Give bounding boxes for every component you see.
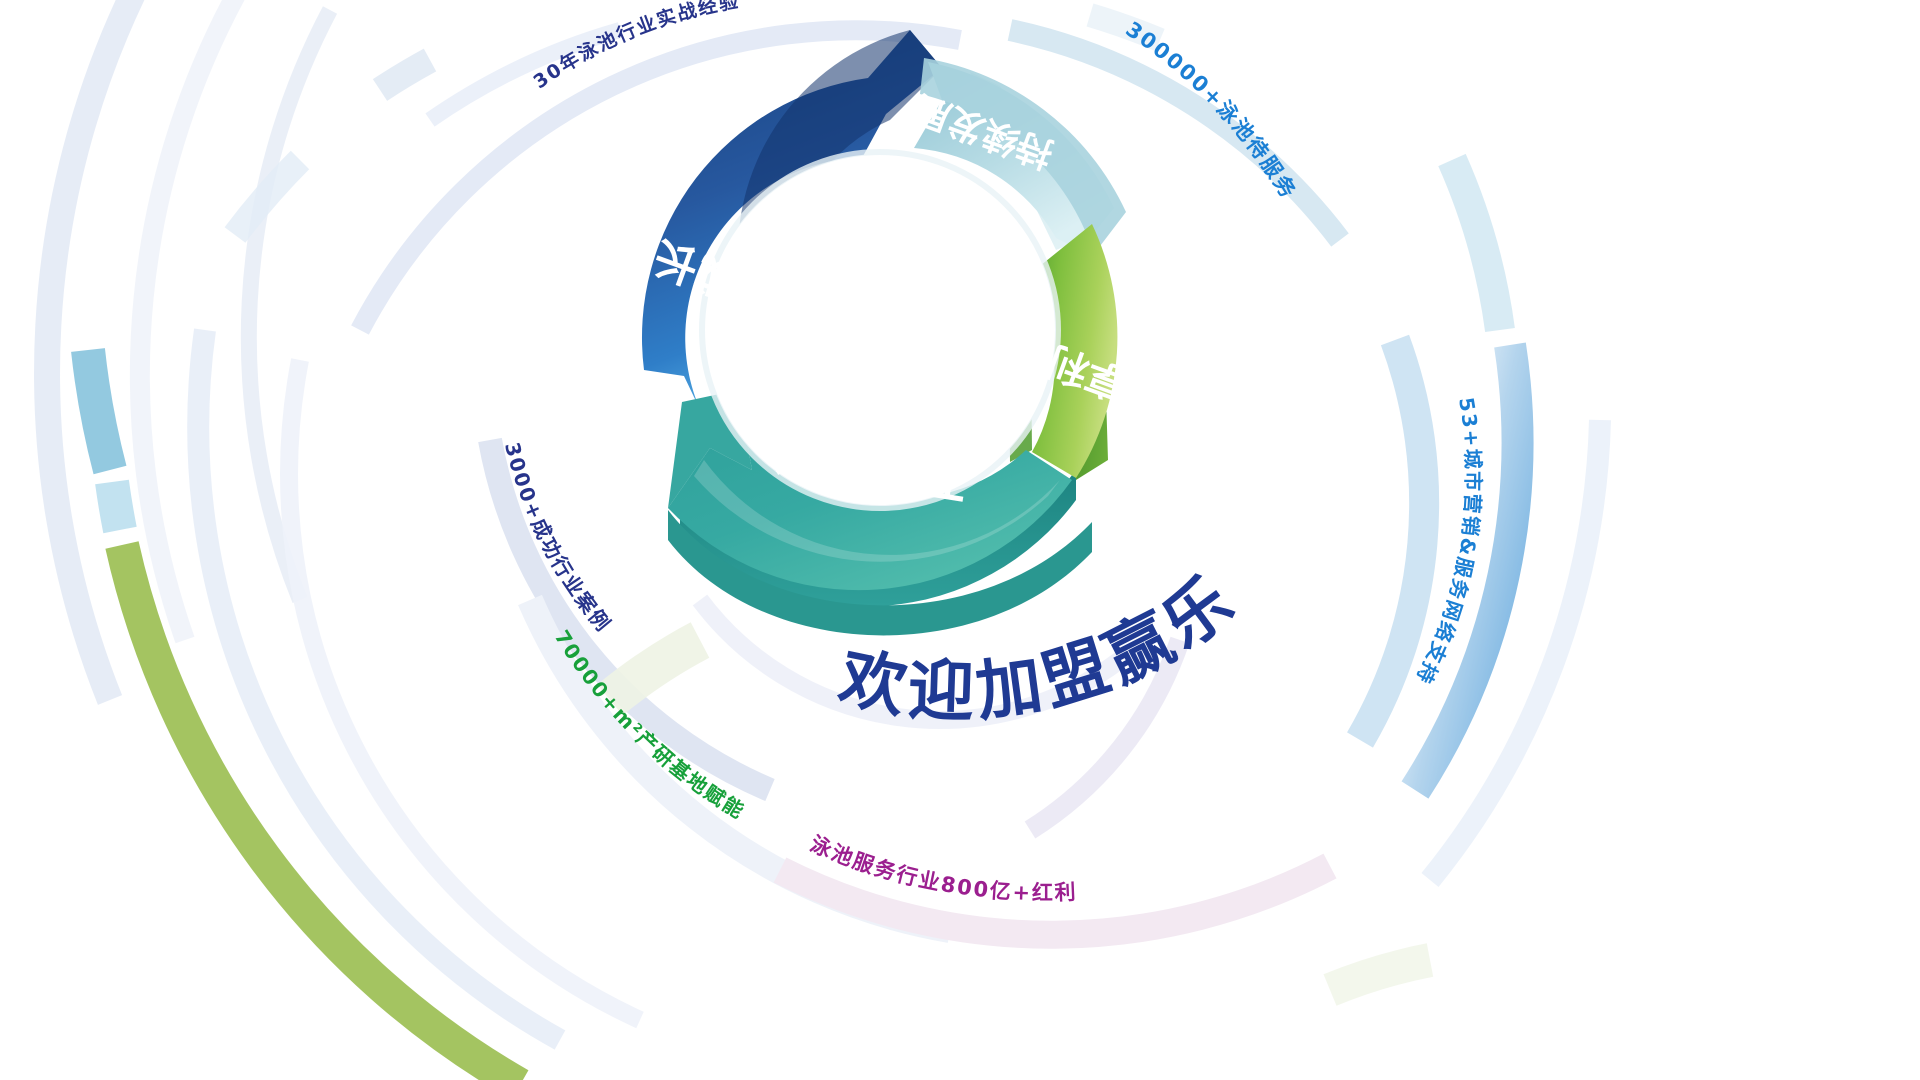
arc-accent-blue (88, 350, 110, 470)
poster-canvas: 共同成长 持续发展 分享利益 赋能行业 30年泳池行业实战经验 300000+泳… (0, 0, 1920, 1080)
arc-accent-lightblue (112, 482, 120, 530)
poster-artwork: 共同成长 持续发展 分享利益 赋能行业 30年泳池行业实战经验 300000+泳… (0, 0, 1920, 1080)
